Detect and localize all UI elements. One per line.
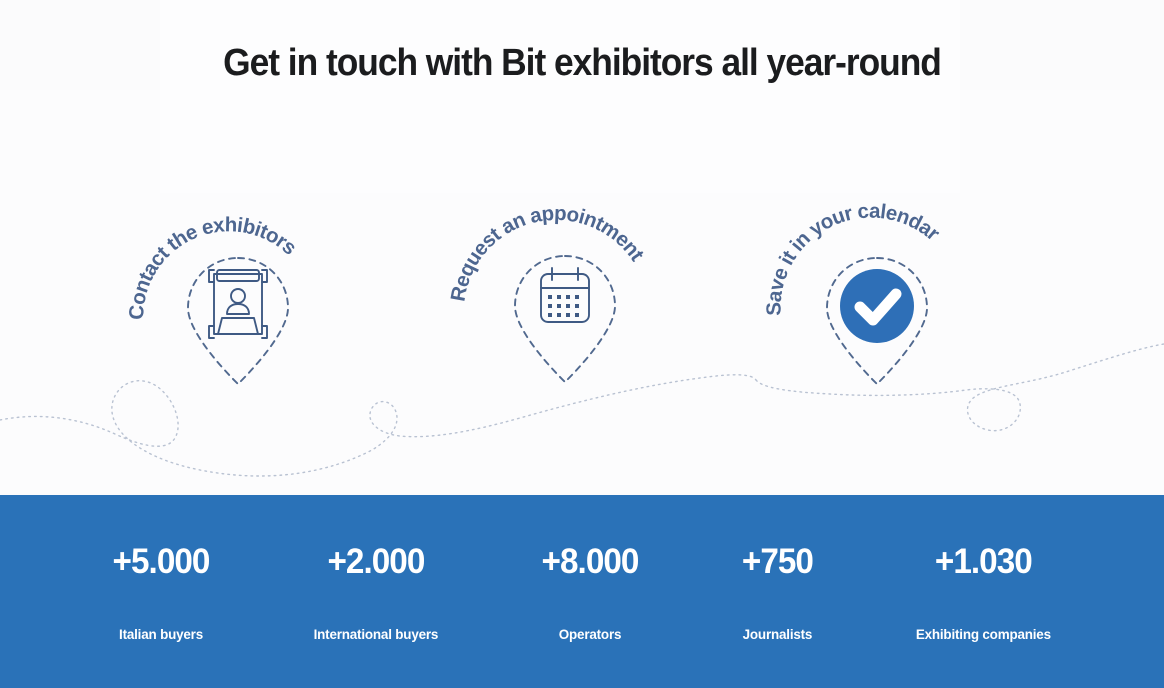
stat-value: +8.000 bbox=[542, 542, 639, 582]
stat-exhibiting-companies: +1.030 Exhibiting companies bbox=[913, 542, 1054, 642]
stat-label: Operators bbox=[541, 626, 639, 642]
stat-value: +2.000 bbox=[314, 542, 437, 582]
stat-operators: +8.000 Operators bbox=[539, 542, 641, 642]
stat-value: +5.000 bbox=[113, 542, 210, 582]
stats-list: +5.000 Italian buyers +2.000 Internation… bbox=[110, 495, 1054, 688]
step-contact-the-exhibitors[interactable]: Contact the exhibitors bbox=[126, 196, 326, 396]
stat-journalists: +750 Journalists bbox=[740, 542, 815, 642]
map-pin-outline bbox=[188, 258, 288, 384]
stat-international-buyers: +2.000 International buyers bbox=[311, 542, 441, 642]
check-circle-icon bbox=[840, 269, 914, 343]
stat-label: Journalists bbox=[741, 626, 813, 642]
page-title: Get in touch with Bit exhibitors all yea… bbox=[41, 42, 1124, 85]
stats-band: +5.000 Italian buyers +2.000 Internation… bbox=[0, 495, 1164, 688]
stat-label: Italian buyers bbox=[112, 626, 210, 642]
stat-italian-buyers: +5.000 Italian buyers bbox=[110, 542, 212, 642]
exhibition-booth-icon bbox=[209, 270, 267, 338]
stat-value: +750 bbox=[742, 542, 813, 582]
stat-label: International buyers bbox=[313, 626, 438, 642]
background-panel-headline bbox=[160, 0, 960, 193]
step-request-an-appointment[interactable]: Request an appointment bbox=[452, 192, 662, 392]
step-label-contact: Contact the exhibitors bbox=[125, 213, 301, 320]
hero-section: Get in touch with Bit exhibitors all yea… bbox=[0, 0, 1164, 688]
calendar-icon bbox=[541, 268, 589, 322]
stat-value: +1.030 bbox=[917, 542, 1051, 582]
stat-label: Exhibiting companies bbox=[916, 626, 1051, 642]
step-save-it-in-your-calendar[interactable]: Save it in your calendar bbox=[768, 196, 973, 396]
